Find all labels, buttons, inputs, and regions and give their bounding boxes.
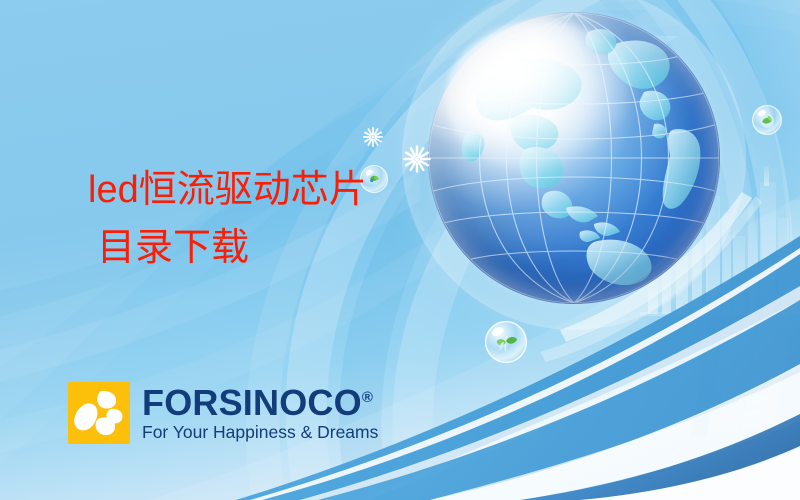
poster-canvas: led恒流驱动芯片 目录下载 FORSINOCO® For Your Happi…: [0, 0, 800, 500]
page-title-line-1: led恒流驱动芯片: [88, 162, 367, 220]
logo-wordmark: FORSINOCO®: [142, 385, 378, 421]
four-petal-pinwheel-icon: [68, 382, 130, 444]
page-title-line-2: 目录下载: [97, 220, 367, 278]
page-title: led恒流驱动芯片 目录下载: [88, 162, 367, 278]
registered-trademark-icon: ®: [362, 389, 373, 406]
logo-text-block: FORSINOCO® For Your Happiness & Dreams: [142, 385, 378, 442]
globe-halo: [402, 0, 746, 330]
logo-tagline: For Your Happiness & Dreams: [142, 424, 378, 442]
company-logo[interactable]: FORSINOCO® For Your Happiness & Dreams: [68, 382, 378, 444]
earth-globe-icon: [428, 12, 720, 304]
logo-wordmark-text: FORSINOCO: [142, 382, 362, 423]
